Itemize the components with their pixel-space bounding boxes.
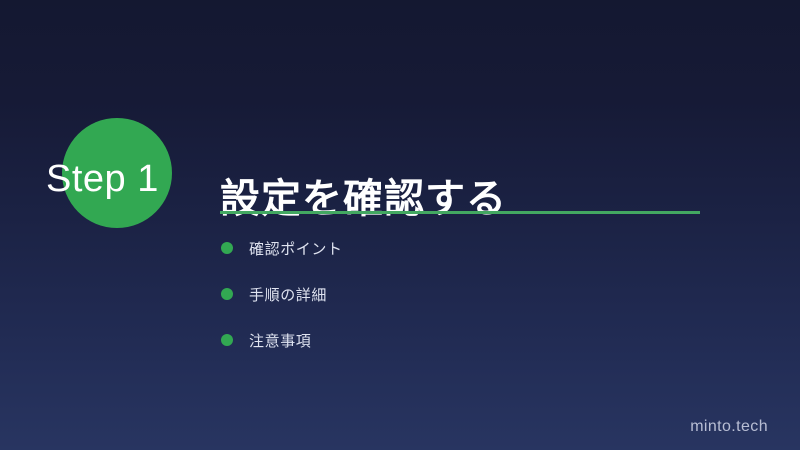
slide-canvas: Step 1 設定を確認する 確認ポイント 手順の詳細 注意事項 minto.t… bbox=[0, 0, 800, 450]
title-underline-rule bbox=[220, 211, 700, 214]
list-item: 手順の詳細 bbox=[221, 282, 343, 306]
slide-title: 設定を確認する bbox=[220, 173, 507, 225]
bullet-dot-icon bbox=[221, 288, 233, 300]
bullet-list: 確認ポイント 手順の詳細 注意事項 bbox=[221, 236, 343, 374]
bullet-item-label: 確認ポイント bbox=[249, 238, 343, 259]
list-item: 注意事項 bbox=[221, 328, 343, 352]
step-number-label: Step 1 bbox=[46, 156, 206, 202]
bullet-item-label: 手順の詳細 bbox=[249, 284, 327, 305]
list-item: 確認ポイント bbox=[221, 236, 343, 260]
brand-watermark: minto.tech bbox=[690, 418, 768, 436]
bullet-item-label: 注意事項 bbox=[249, 330, 311, 351]
bullet-dot-icon bbox=[221, 242, 233, 254]
bullet-dot-icon bbox=[221, 334, 233, 346]
